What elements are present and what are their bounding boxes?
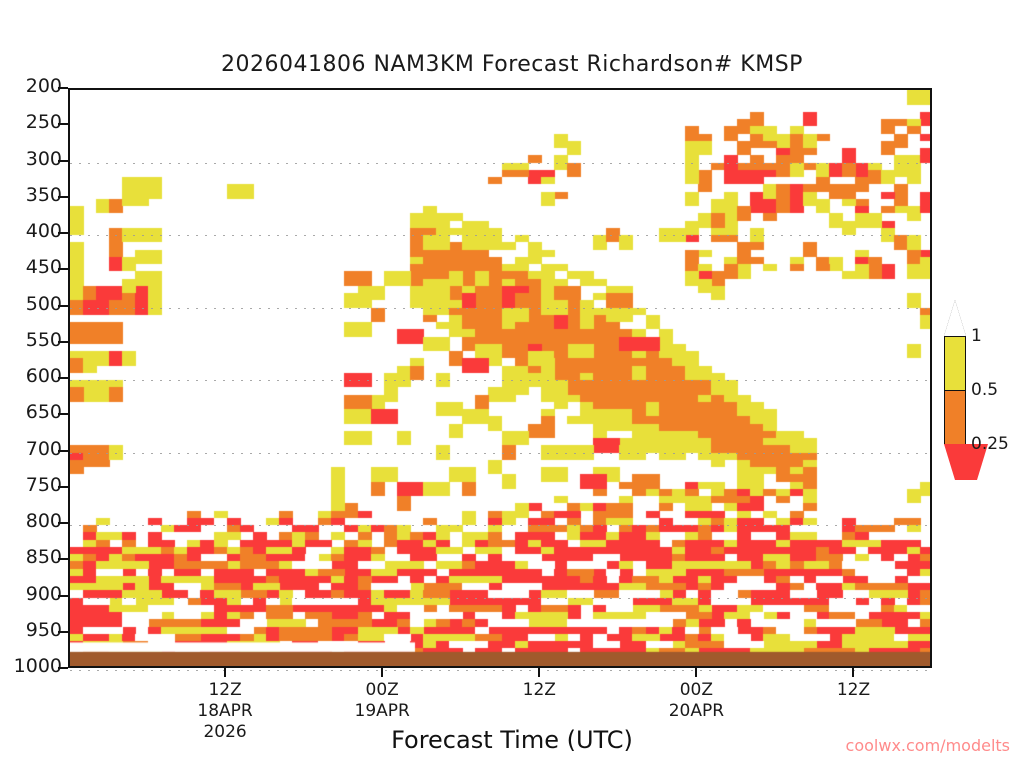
y-tick-mark — [58, 486, 68, 488]
y-tick-label: 650 — [0, 401, 62, 423]
y-tick-mark — [58, 631, 68, 633]
colorbar-segment-yellow — [945, 337, 965, 390]
y-tick-label: 950 — [0, 619, 62, 641]
y-tick-label: 600 — [0, 365, 62, 387]
x-tick-mark — [695, 668, 697, 677]
y-tick-label: 700 — [0, 438, 62, 460]
x-tick-label: 12Z — [479, 680, 599, 701]
y-tick-mark — [58, 123, 68, 125]
y-tick-mark — [58, 413, 68, 415]
y-tick-label: 300 — [0, 148, 62, 170]
plot-area — [68, 88, 932, 668]
colorbar-label-1: 1 — [971, 326, 982, 346]
y-tick-mark — [58, 558, 68, 560]
x-tick-mark — [852, 668, 854, 677]
colorbar-label-half: 0.5 — [971, 380, 998, 400]
colorbar-body — [944, 336, 966, 444]
y-tick-mark — [58, 450, 68, 452]
y-tick-mark — [58, 268, 68, 270]
y-tick-label: 200 — [0, 75, 62, 97]
y-tick-mark — [58, 87, 68, 89]
y-tick-label: 550 — [0, 329, 62, 351]
y-tick-mark — [58, 595, 68, 597]
chart-title: 2026041806 NAM3KM Forecast Richardson# K… — [0, 52, 1024, 77]
y-tick-label: 750 — [0, 474, 62, 496]
y-tick-mark — [58, 160, 68, 162]
colorbar-segment-orange — [945, 390, 965, 444]
y-tick-mark — [58, 305, 68, 307]
x-tick-mark — [538, 668, 540, 677]
x-tick-mark — [224, 668, 226, 677]
y-tick-label: 850 — [0, 546, 62, 568]
y-tick-mark — [58, 377, 68, 379]
y-tick-mark — [58, 522, 68, 524]
heatmap-cells — [70, 90, 930, 666]
y-tick-label: 400 — [0, 220, 62, 242]
y-tick-label: 450 — [0, 256, 62, 278]
source-watermark: coolwx.com/modelts — [846, 736, 1010, 755]
y-tick-label: 250 — [0, 111, 62, 133]
gridline — [70, 670, 930, 671]
y-tick-mark — [58, 341, 68, 343]
y-tick-mark — [58, 196, 68, 198]
y-tick-label: 1000 — [0, 655, 62, 677]
colorbar-label-quarter: 0.25 — [971, 434, 1009, 454]
x-tick-label: 12Z — [793, 680, 913, 701]
y-tick-label: 350 — [0, 184, 62, 206]
y-tick-label: 900 — [0, 583, 62, 605]
chart-figure: 2026041806 NAM3KM Forecast Richardson# K… — [0, 0, 1024, 768]
colorbar: 1 0.5 0.25 — [938, 296, 1024, 484]
heatmap-canvas — [70, 90, 930, 666]
y-tick-label: 500 — [0, 293, 62, 315]
y-tick-mark — [58, 667, 68, 669]
y-tick-mark — [58, 232, 68, 234]
y-tick-label: 800 — [0, 510, 62, 532]
colorbar-top-arrow — [944, 300, 966, 336]
x-tick-label: 00Z 20APR — [636, 680, 756, 722]
x-tick-label: 00Z 19APR — [322, 680, 442, 722]
x-tick-mark — [381, 668, 383, 677]
